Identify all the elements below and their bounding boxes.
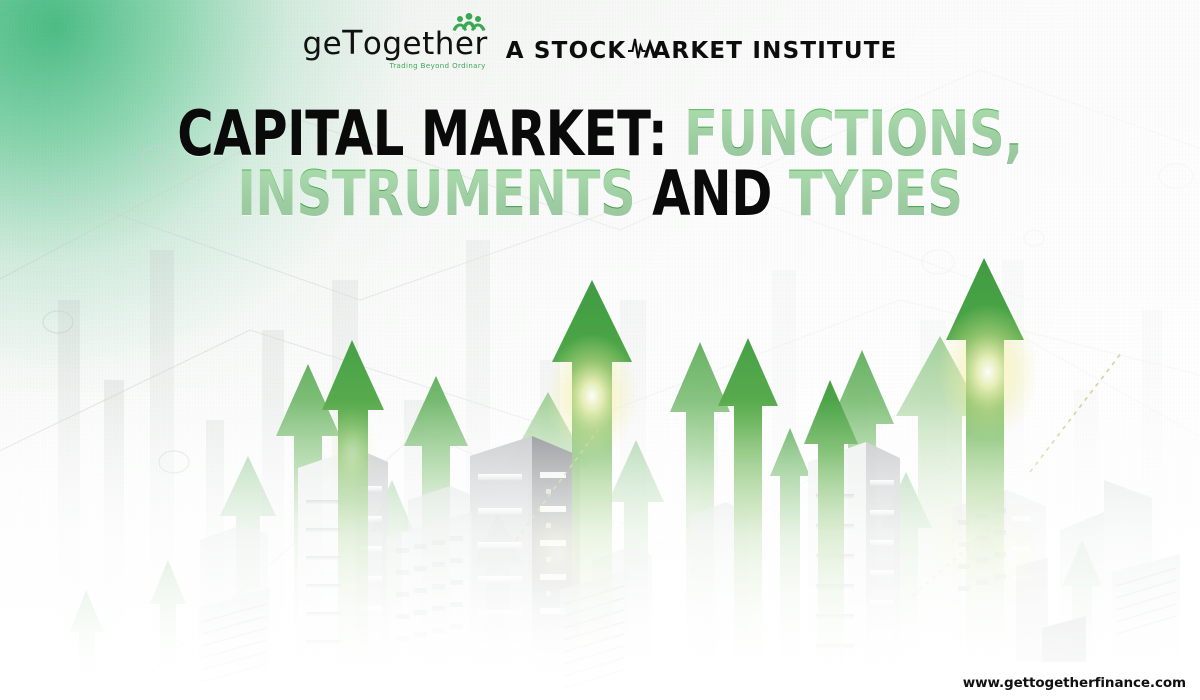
website-url[interactable]: www.gettogetherfinance.com [963, 675, 1186, 691]
logo-word-part1: ge [302, 26, 342, 62]
gettogether-logo[interactable]: geTogether Trading Beyond Ordinary [302, 26, 487, 70]
title-line2-black: AND [652, 157, 772, 230]
people-group-icon [448, 13, 490, 40]
title-line-1: CAPITAL MARKET: FUNCTIONS, [120, 104, 1080, 164]
title-line-2: INSTRUMENTS AND TYPES [120, 164, 1080, 224]
scene-bottom-fade [0, 400, 1200, 700]
brand-header: geTogether Trading Beyond Ordinary A STO… [0, 26, 1200, 70]
institute-tagline: A STOCK ARKET INSTITUTE [506, 35, 898, 70]
title-line2-green-a: INSTRUMENTS [237, 157, 635, 230]
page-title: CAPITAL MARKET: FUNCTIONS, INSTRUMENTS A… [0, 104, 1200, 224]
logo-word-cap: T [342, 23, 363, 62]
title-line2-green-b: TYPES [789, 157, 963, 230]
capital-market-banner: geTogether Trading Beyond Ordinary A STO… [0, 0, 1200, 700]
institute-tagline-pre: A STOCK [506, 38, 627, 64]
institute-tagline-post: ARKET INSTITUTE [652, 38, 897, 64]
logo-tagline: Trading Beyond Ordinary [390, 62, 488, 70]
